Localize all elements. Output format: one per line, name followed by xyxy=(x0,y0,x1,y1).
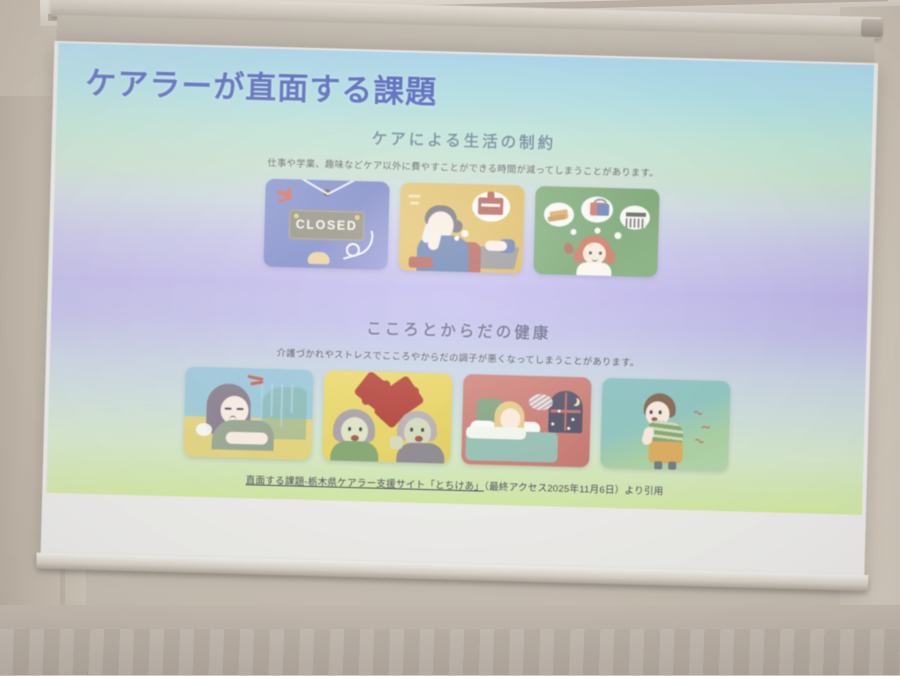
person-leg-left xyxy=(654,461,662,469)
spark-mark-2 xyxy=(410,202,419,205)
person-eye-left-pain xyxy=(649,410,652,414)
section-care-life-restriction: ケアによる生活の制約 仕事や学業、趣味などケア以外に費やすことができる時間が減っ… xyxy=(53,118,873,283)
stress-mark-icon xyxy=(247,376,269,387)
section-mind-body-health: こころとからだの健康 介護づかれやストレスでこころやからだの調子が悪くなってしま… xyxy=(47,308,867,475)
thought-dot-2 xyxy=(594,228,600,234)
person-leg-right xyxy=(668,462,676,470)
gloom-lines-icon xyxy=(258,382,299,425)
thought-dot-medium xyxy=(461,230,468,237)
second-person-arm xyxy=(485,241,507,252)
spark-mark-1 xyxy=(408,194,420,197)
slide-title: ケアラーが直面する課題 xyxy=(85,58,438,113)
sign-rope-left xyxy=(299,179,329,196)
projector-screen: ケアラーが直面する課題 ケアによる生活の制約 仕事や学業、趣味などケア以外に費や… xyxy=(7,0,885,627)
screen-roller-cap xyxy=(861,19,883,38)
elder-2-fist xyxy=(389,436,402,449)
restless-swirl-icon xyxy=(528,394,552,411)
bed-sheet xyxy=(465,426,525,440)
exhausted-woman-illustration xyxy=(183,367,313,460)
sign-eyelet-left xyxy=(294,213,299,218)
section-1-illustration-row: CLOSED xyxy=(53,173,871,283)
arguing-elders-illustration xyxy=(322,370,452,463)
sigh-breath-icon xyxy=(195,423,211,436)
girl-eye-left xyxy=(589,251,592,254)
pain-mark-1: 〜 xyxy=(693,405,705,420)
pain-mark-2: 〜 xyxy=(701,420,712,434)
citation-suffix: （最終アクセス2025年11月6日）より引用 xyxy=(484,482,664,498)
woman-arm xyxy=(225,432,267,445)
closed-shop-illustration: CLOSED xyxy=(263,179,389,270)
window-mullion-horizontal xyxy=(550,409,580,412)
citation-link[interactable]: 直面する課題-栃木県ケアラー支援サイト「とちけあ」 xyxy=(246,475,485,492)
moon-icon xyxy=(568,397,576,405)
closed-sign-label: CLOSED xyxy=(296,217,358,233)
hospital-building-icon xyxy=(478,197,503,215)
sign-rope-right xyxy=(327,179,358,196)
thought-dot-1 xyxy=(570,229,576,235)
person-eye-right-pain xyxy=(658,410,661,414)
person-skirt xyxy=(648,441,683,464)
elder-1-eye-left xyxy=(348,427,351,431)
elder-2-mouth xyxy=(414,436,422,442)
star-icon-4 xyxy=(567,427,570,430)
floor-stripes xyxy=(0,629,900,675)
telephone-base-icon xyxy=(408,257,432,269)
elder-2-eye-right xyxy=(421,428,424,432)
thought-dot-small xyxy=(454,236,459,241)
presentation-slide: ケアラーが直面する課題 ケアによる生活の制約 仕事や学業、趣味などケア以外に費や… xyxy=(46,43,874,515)
sad-drop-icon xyxy=(563,242,575,255)
woman-eye-right xyxy=(236,408,243,410)
impact-burst-icon xyxy=(274,186,300,205)
star-icon-2 xyxy=(571,418,574,421)
elder-2-body xyxy=(396,442,445,463)
woman-eye-left xyxy=(224,408,231,410)
star-icon-3 xyxy=(551,422,554,425)
elder-1-eye-right xyxy=(359,427,362,431)
girl-giving-up-hobbies-illustration xyxy=(533,186,659,277)
thought-dot-3 xyxy=(614,232,621,239)
night-window xyxy=(548,390,583,433)
back-pain-illustration: 〜 〜 〜 xyxy=(600,378,730,471)
star-icon-1 xyxy=(558,410,561,413)
elder-2-eye-left xyxy=(410,428,413,432)
anger-burst-3 xyxy=(379,405,400,421)
girl-eye-right xyxy=(599,252,602,255)
elder-1-body xyxy=(330,440,379,463)
girl-body xyxy=(576,262,611,277)
insomnia-in-bed-illustration xyxy=(461,374,591,467)
section-2-illustration-row: 〜 〜 〜 xyxy=(47,363,865,475)
pain-mark-3: 〜 xyxy=(693,433,706,448)
shell-shape-icon xyxy=(308,252,330,265)
shopping-bag-icon-2 xyxy=(597,204,609,216)
sign-eyelet-right xyxy=(355,215,360,220)
phone-call-illustration xyxy=(398,182,524,273)
piano-icon xyxy=(626,212,646,228)
